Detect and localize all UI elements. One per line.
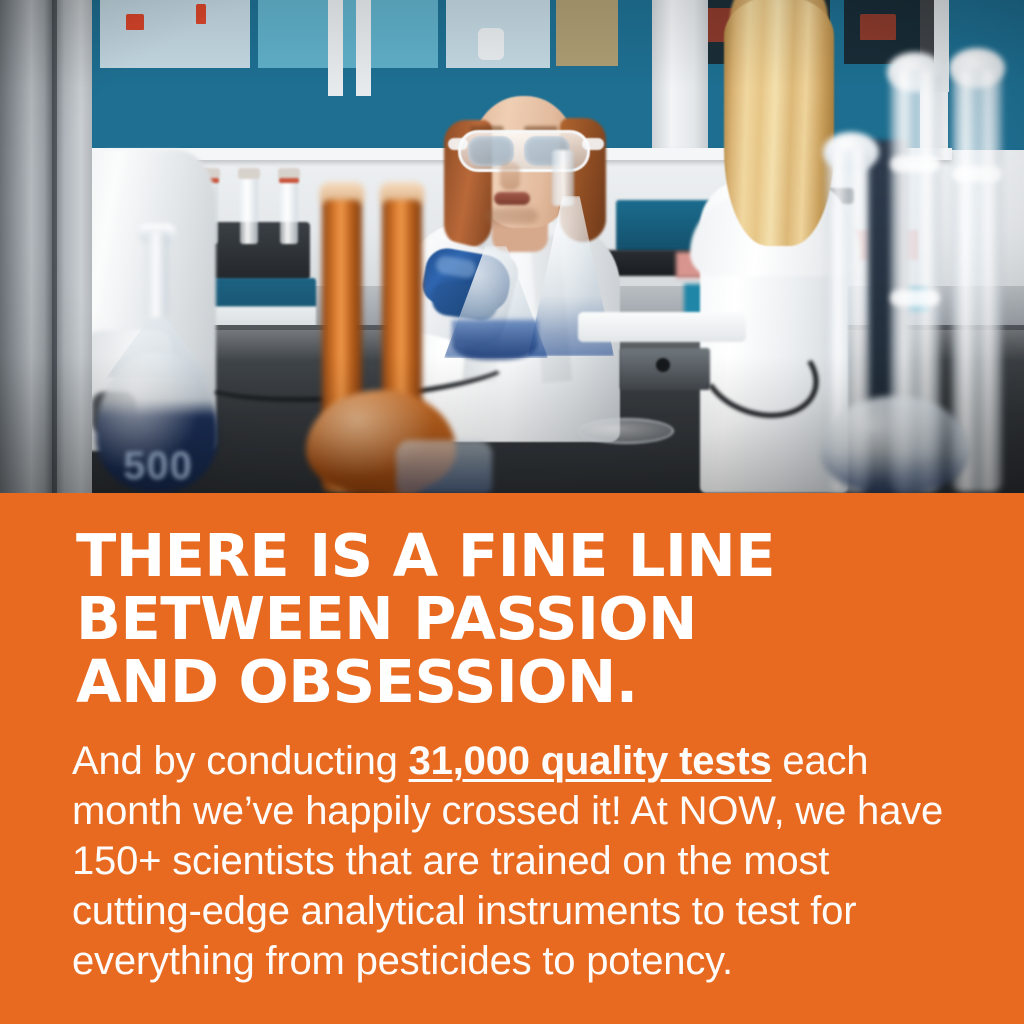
headline: THERE IS A FINE LINE BETWEEN PASSION AND… xyxy=(76,524,976,713)
scientist-right-hair xyxy=(724,0,834,246)
door-frame-seam xyxy=(52,0,57,493)
test-tube xyxy=(240,176,258,244)
door-frame-left xyxy=(0,0,92,493)
social-graphic-card: 500 THERE IS A FINE LINE BETWEEN PASSION… xyxy=(0,0,1024,1024)
cabinet-glass-pane xyxy=(556,0,618,66)
chin-shadow xyxy=(486,208,538,224)
body-paragraph: And by conducting 31,000 quality tests e… xyxy=(72,736,958,986)
cylinder-ring xyxy=(952,166,1002,182)
body-text-before: And by conducting xyxy=(72,739,409,783)
headline-line-1: THERE IS A FINE LINE xyxy=(76,524,976,587)
mouth xyxy=(494,192,530,205)
cabinet-glass-pane xyxy=(258,0,438,68)
cylinder-ring xyxy=(890,290,940,306)
test-tube-marker xyxy=(279,178,299,183)
test-tube xyxy=(280,176,298,244)
flask-neck xyxy=(146,232,168,318)
flask-label-500: 500 xyxy=(110,444,206,488)
shelf-bottle xyxy=(860,14,896,40)
beaker-foreground xyxy=(396,440,492,493)
lab-photo: 500 xyxy=(0,0,1024,493)
headline-line-2: BETWEEN PASSION xyxy=(76,587,976,650)
quality-tests-highlight: 31,000 quality tests xyxy=(409,739,772,783)
cabinet-divider xyxy=(328,0,343,96)
headline-line-3: AND OBSESSION. xyxy=(76,650,976,713)
cabinet-glass-pane xyxy=(100,0,250,68)
shelf-bottle xyxy=(478,28,504,60)
shelf-bottle xyxy=(196,4,206,24)
test-tube-cap xyxy=(238,168,260,179)
shelf-bottle xyxy=(126,14,144,30)
nose xyxy=(500,162,520,190)
petri-dish xyxy=(578,418,674,444)
instrument-knob xyxy=(656,358,670,372)
cylinder-ring xyxy=(890,156,940,172)
orange-text-panel: THERE IS A FINE LINE BETWEEN PASSION AND… xyxy=(0,493,1024,1024)
cabinet-divider xyxy=(356,0,371,96)
